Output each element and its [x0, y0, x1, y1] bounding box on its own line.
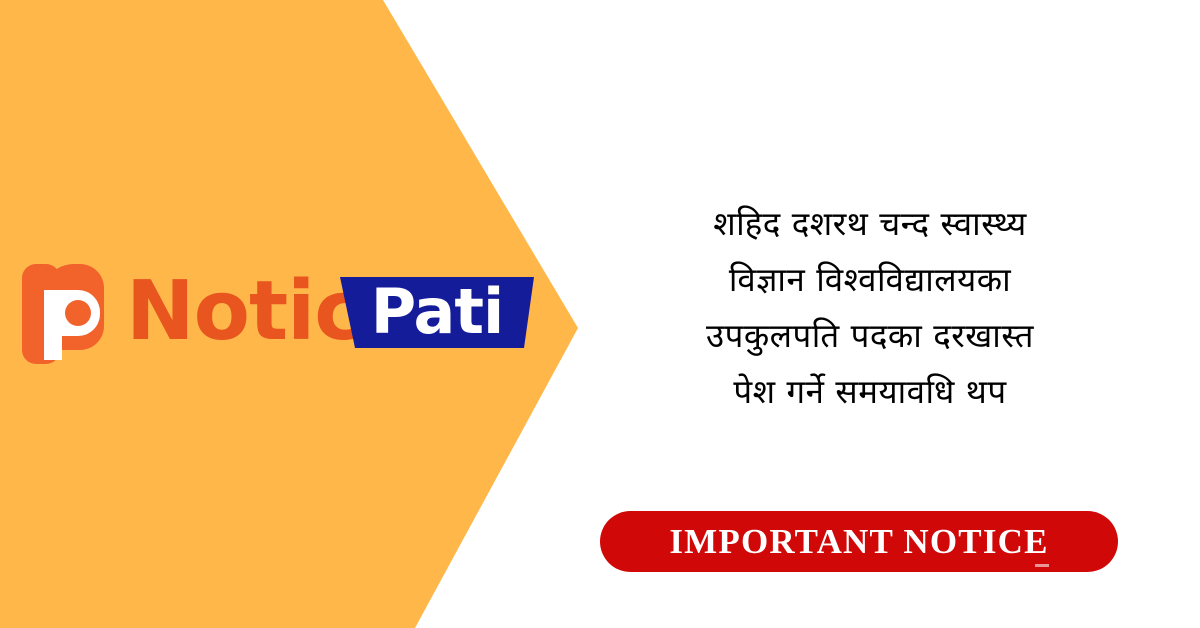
- button-artifact-mark: [1035, 564, 1049, 567]
- headline-text: शहिद दशरथ चन्द स्वास्थ्य विज्ञान विश्ववि…: [600, 196, 1140, 420]
- important-notice-button[interactable]: IMPORTANT NOTICE: [600, 511, 1118, 572]
- headline-line-4: पेश गर्ने समयावधि थप: [600, 364, 1140, 420]
- logo-word-pati: Pati: [340, 277, 534, 348]
- content-panel: शहिद दशरथ चन्द स्वास्थ्य विज्ञान विश्ववि…: [600, 0, 1200, 628]
- headline-line-2: विज्ञान विश्वविद्यालयका: [600, 252, 1140, 308]
- notice-pati-logo[interactable]: Notice Pati: [22, 262, 522, 366]
- notice-banner: Notice Pati शहिद दशरथ चन्द स्वास्थ्य विज…: [0, 0, 1200, 628]
- important-notice-button-label: IMPORTANT NOTICE: [669, 522, 1048, 562]
- notice-pati-p-mark-icon: [22, 264, 104, 364]
- headline-line-3: उपकुलपति पदका दरखास्त: [600, 308, 1140, 364]
- headline-line-1: शहिद दशरथ चन्द स्वास्थ्य: [600, 196, 1140, 252]
- logo-word-pati-badge: Pati: [340, 277, 534, 348]
